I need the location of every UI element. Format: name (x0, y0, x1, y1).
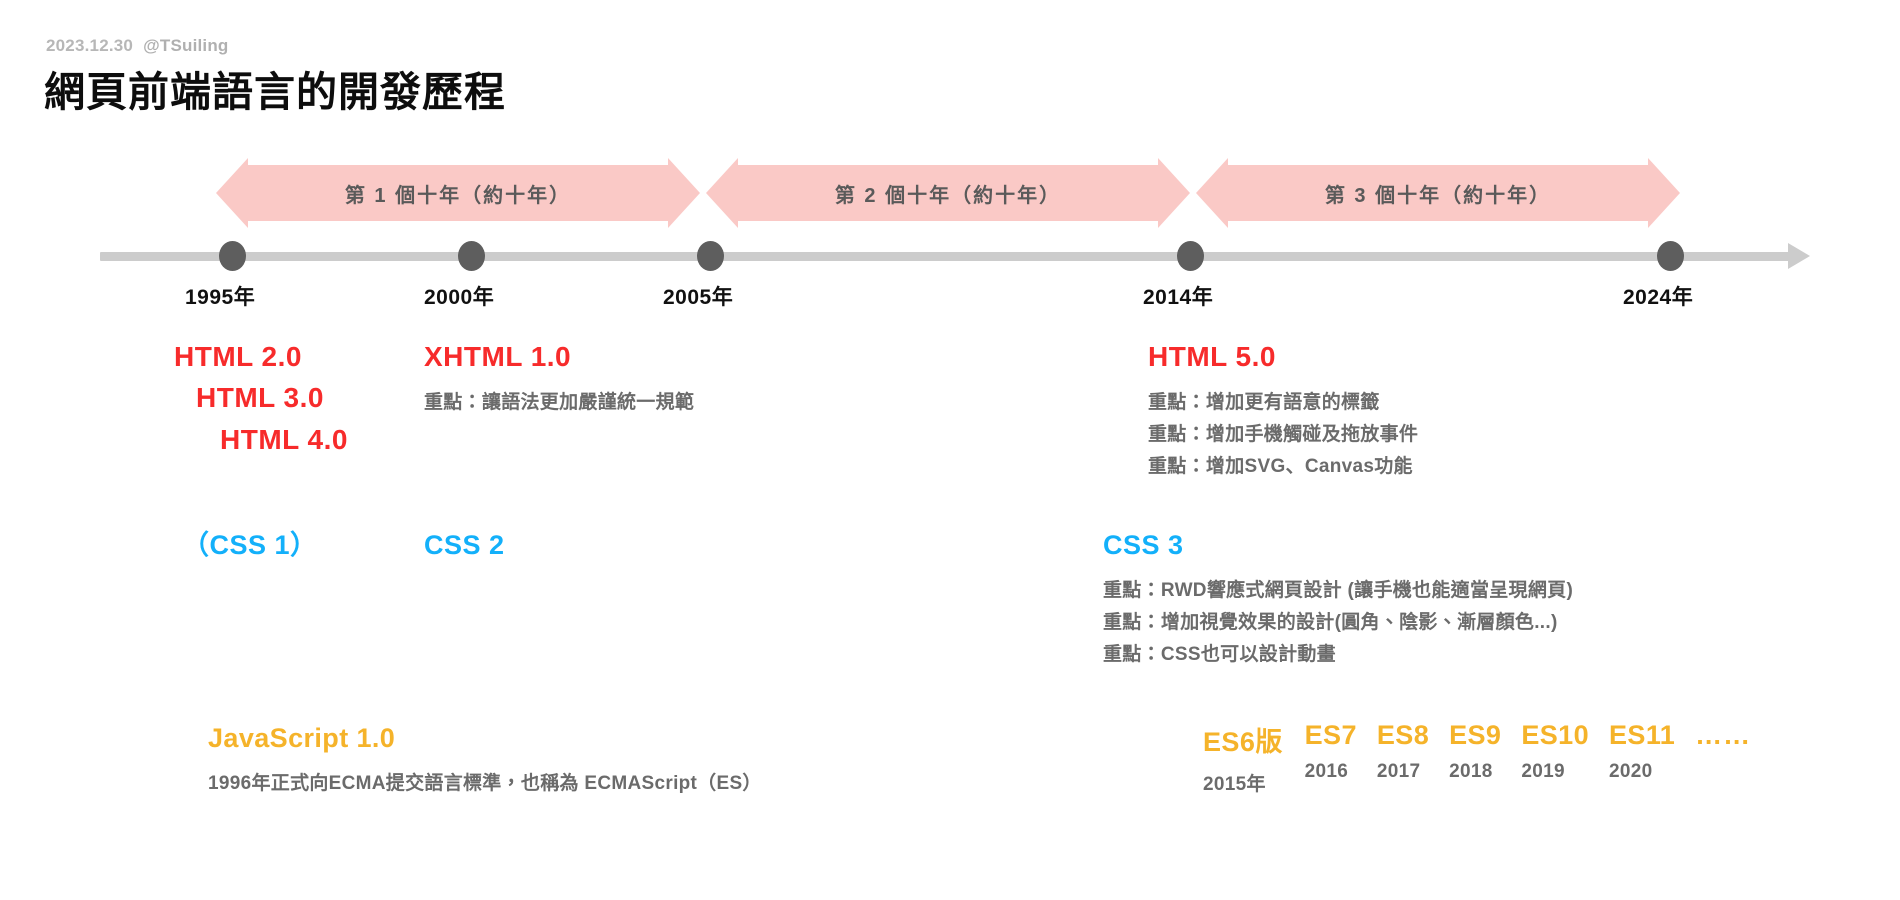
es-year: 2020 (1609, 761, 1675, 783)
timeline-node-1995 (219, 241, 246, 271)
css1-version: （CSS 1） (182, 527, 318, 565)
javascript-version: JavaScript 1.0 (208, 720, 762, 758)
byline: 2023.12.30@TSuiling (46, 36, 229, 56)
arrow-head-left-icon (216, 158, 248, 228)
axis-arrow-icon (1788, 243, 1810, 269)
xhtml-detail-1: 重點：讓語法更加嚴謹統一規範 (424, 387, 694, 419)
es-release-es11: ES11 2020 (1609, 720, 1675, 783)
year-label-2005: 2005年 (663, 281, 733, 311)
publish-date: 2023.12.30 (46, 36, 133, 55)
es-release-es8: ES8 2017 (1377, 720, 1429, 783)
decade-band-1-label: 第 1 個十年（約十年） (345, 179, 571, 208)
es-year: 2019 (1521, 761, 1589, 783)
es-release-es7: ES7 2016 (1305, 720, 1357, 783)
es-release-es10: ES10 2019 (1521, 720, 1589, 783)
es-release-es6: ES6版 2015年 (1203, 720, 1283, 796)
decade-band-2-label: 第 2 個十年（約十年） (835, 179, 1061, 208)
css3-detail-3: 重點：CSS也可以設計動畫 (1103, 639, 1573, 671)
es-release-row: ES6版 2015年 ES7 2016 ES8 2017 ES9 2018 ES… (1203, 720, 1751, 796)
decade-band-3: 第 3 個十年（約十年） (1228, 165, 1648, 221)
es-name: ES8 (1377, 720, 1429, 751)
timeline-node-2005 (697, 241, 724, 271)
html5-detail-2: 重點：增加手機觸碰及拖放事件 (1148, 419, 1418, 451)
xhtml-version: XHTML 1.0 (424, 336, 694, 377)
page-title: 網頁前端語言的開發歷程 (44, 58, 506, 118)
arrow-head-left-icon (706, 158, 738, 228)
es-name: ES6版 (1203, 720, 1283, 759)
html-group-2014: HTML 5.0 重點：增加更有語意的標籤 重點：增加手機觸碰及拖放事件 重點：… (1148, 336, 1418, 483)
css3-detail-1: 重點：RWD響應式網頁設計 (讓手機也能適當呈現網頁) (1103, 575, 1573, 607)
year-label-1995: 1995年 (185, 281, 255, 311)
css3-version: CSS 3 (1103, 527, 1573, 565)
js-group-2000: JavaScript 1.0 1996年正式向ECMA提交語言標準，也稱為 EC… (208, 720, 762, 800)
css-group-2014: CSS 3 重點：RWD響應式網頁設計 (讓手機也能適當呈現網頁) 重點：增加視… (1103, 527, 1573, 671)
html5-detail-3: 重點：增加SVG、Canvas功能 (1148, 451, 1418, 483)
timeline-node-2014 (1177, 241, 1204, 271)
css2-version: CSS 2 (424, 527, 505, 565)
es-year: 2017 (1377, 761, 1429, 783)
year-label-2000: 2000年 (424, 281, 494, 311)
year-label-2024: 2024年 (1623, 281, 1693, 311)
decade-band-3-label: 第 3 個十年（約十年） (1325, 179, 1551, 208)
es-name: ES10 (1521, 720, 1589, 751)
css-group-2000: CSS 2 (424, 527, 505, 565)
arrow-head-right-icon (668, 158, 700, 228)
timeline-node-2024 (1657, 241, 1684, 271)
decade-band-1: 第 1 個十年（約十年） (248, 165, 668, 221)
es-release-more: …… (1695, 720, 1751, 751)
decade-band-2: 第 2 個十年（約十年） (738, 165, 1158, 221)
timeline-axis (100, 252, 1790, 261)
es-more-ellipsis: …… (1695, 720, 1751, 751)
html-version-4: HTML 4.0 (174, 419, 348, 460)
javascript-detail-1: 1996年正式向ECMA提交語言標準，也稱為 ECMAScript（ES） (208, 768, 762, 800)
js-group-2014: ES6版 2015年 ES7 2016 ES8 2017 ES9 2018 ES… (1203, 720, 1751, 796)
es-release-es9: ES9 2018 (1449, 720, 1501, 783)
es-name: ES9 (1449, 720, 1501, 751)
timeline-infographic: 2023.12.30@TSuiling 網頁前端語言的開發歷程 第 1 個十年（… (0, 0, 1900, 900)
arrow-head-right-icon (1648, 158, 1680, 228)
arrow-head-right-icon (1158, 158, 1190, 228)
author-handle: @TSuiling (143, 36, 228, 55)
es-year: 2018 (1449, 761, 1501, 783)
timeline-node-2000 (458, 241, 485, 271)
year-label-2014: 2014年 (1143, 281, 1213, 311)
html5-detail-1: 重點：增加更有語意的標籤 (1148, 387, 1418, 419)
es-year: 2016 (1305, 761, 1357, 783)
html-version-2: HTML 2.0 (174, 336, 348, 377)
html-version-3: HTML 3.0 (174, 377, 348, 418)
es-name: ES11 (1609, 720, 1675, 751)
css3-detail-2: 重點：增加視覺效果的設計(圓角、陰影、漸層顏色...) (1103, 607, 1573, 639)
arrow-head-left-icon (1196, 158, 1228, 228)
html5-version: HTML 5.0 (1148, 336, 1418, 377)
html-group-2000: XHTML 1.0 重點：讓語法更加嚴謹統一規範 (424, 336, 694, 419)
html-group-1995: HTML 2.0 HTML 3.0 HTML 4.0 (174, 336, 348, 460)
es-name: ES7 (1305, 720, 1357, 751)
es-year: 2015年 (1203, 769, 1283, 796)
css-group-1995: （CSS 1） (182, 527, 318, 565)
